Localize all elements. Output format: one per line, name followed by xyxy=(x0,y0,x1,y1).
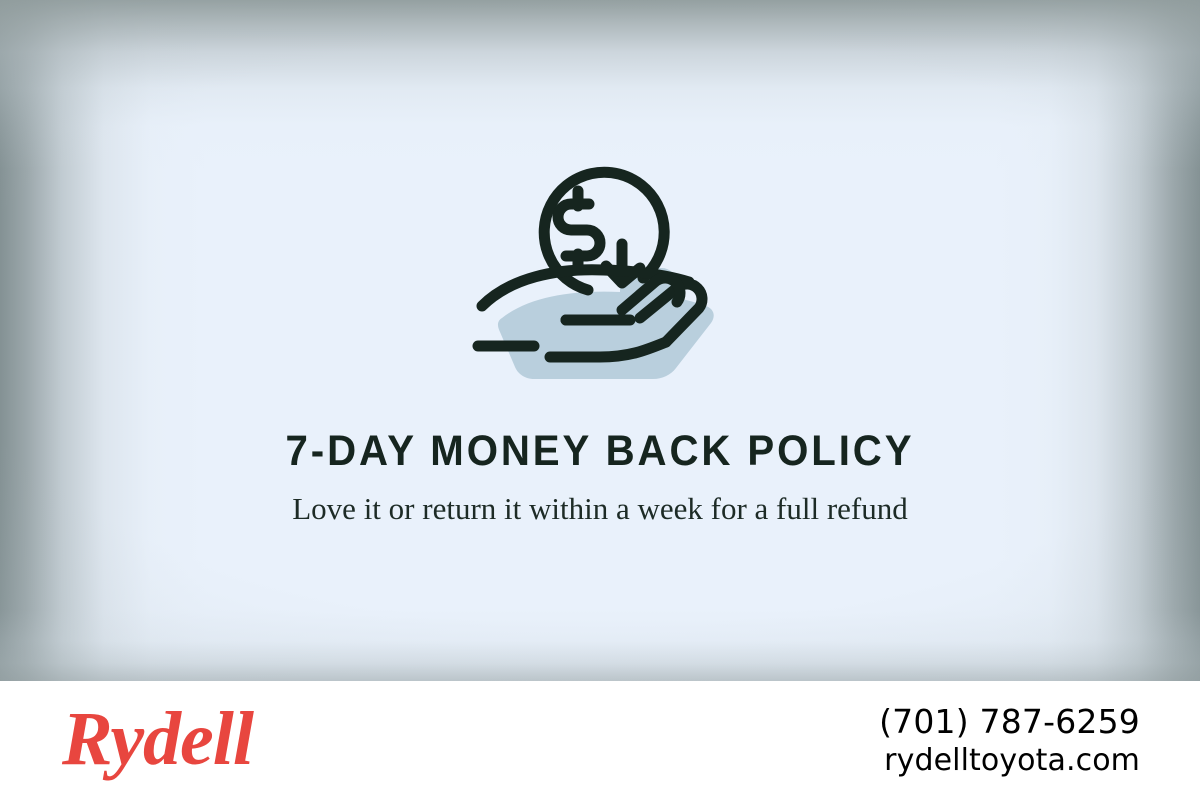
dollar-sign-icon xyxy=(558,191,600,269)
icon-container xyxy=(0,150,1200,390)
svg-text:Rydell: Rydell xyxy=(61,698,254,781)
rydell-logo[interactable]: Rydell xyxy=(58,698,318,784)
promo-card: 7-DAY MONEY BACK POLICY Love it or retur… xyxy=(0,0,1200,800)
hand-holding-money-back-icon xyxy=(470,150,730,390)
website-url[interactable]: rydelltoyota.com xyxy=(879,742,1140,780)
page-subtitle: Love it or return it within a week for a… xyxy=(250,487,950,530)
contact-block: (701) 787-6259 rydelltoyota.com xyxy=(879,702,1140,780)
phone-number[interactable]: (701) 787-6259 xyxy=(879,702,1140,742)
hero-section: 7-DAY MONEY BACK POLICY Love it or retur… xyxy=(0,0,1200,681)
text-block: 7-DAY MONEY BACK POLICY Love it or retur… xyxy=(0,425,1200,530)
page-title: 7-DAY MONEY BACK POLICY xyxy=(39,425,1161,477)
footer-bar: Rydell (701) 787-6259 rydelltoyota.com xyxy=(0,681,1200,800)
